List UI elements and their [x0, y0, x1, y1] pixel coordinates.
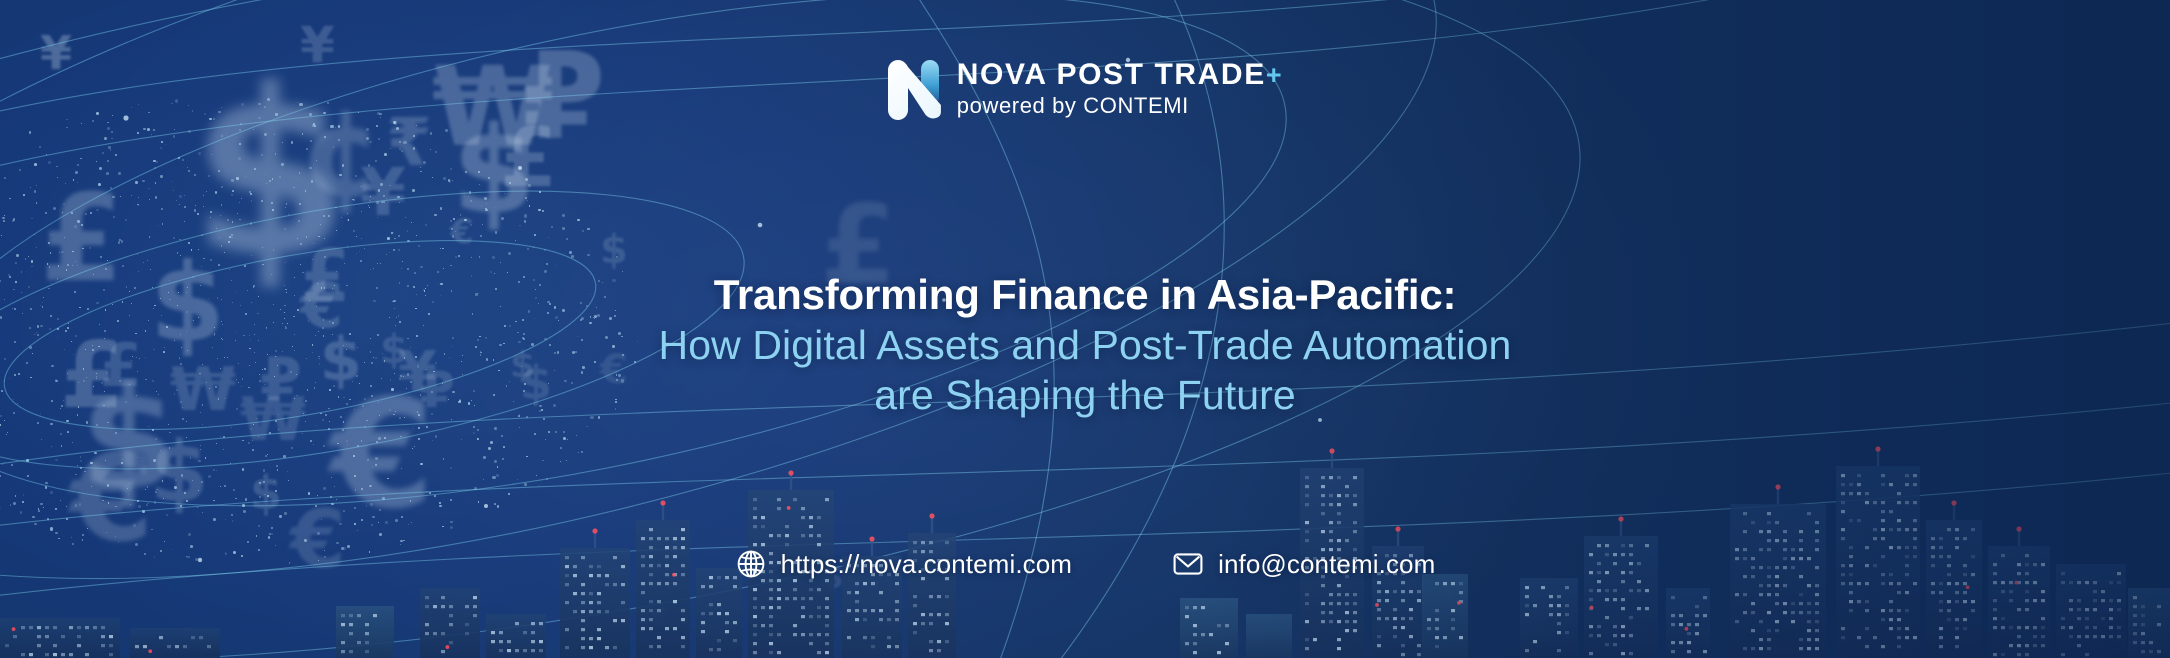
page-subtitle: How Digital Assets and Post-Trade Automa…: [0, 320, 2170, 420]
contact-email-label: info@contemi.com: [1218, 549, 1435, 580]
contact-bar: https://nova.contemi.com info@contemi.co…: [0, 548, 2170, 580]
contact-website-label: https://nova.contemi.com: [781, 549, 1072, 580]
nova-n-mark-icon: [887, 58, 941, 120]
brand-logo[interactable]: NOVA POST TRADE+ powered by CONTEMI: [0, 58, 2170, 120]
logo-title-text: NOVA POST TRADE: [957, 58, 1266, 91]
page-title: Transforming Finance in Asia-Pacific:: [0, 271, 2170, 319]
logo-plus-icon: +: [1266, 60, 1283, 90]
envelope-icon: [1172, 548, 1204, 580]
logo-subtitle: powered by CONTEMI: [957, 93, 1283, 118]
contact-email[interactable]: info@contemi.com: [1172, 548, 1435, 580]
contact-website[interactable]: https://nova.contemi.com: [735, 548, 1072, 580]
hero-banner: ¥£$$¢$₹£€₩$₽£¥¥€£$£€$₩₽$€$$₩€$£¥₽$¢$€: [0, 0, 2170, 658]
page-subtitle-line-2: are Shaping the Future: [0, 370, 2170, 420]
logo-title: NOVA POST TRADE+: [957, 59, 1283, 91]
globe-icon: [735, 548, 767, 580]
page-subtitle-line-1: How Digital Assets and Post-Trade Automa…: [0, 320, 2170, 370]
